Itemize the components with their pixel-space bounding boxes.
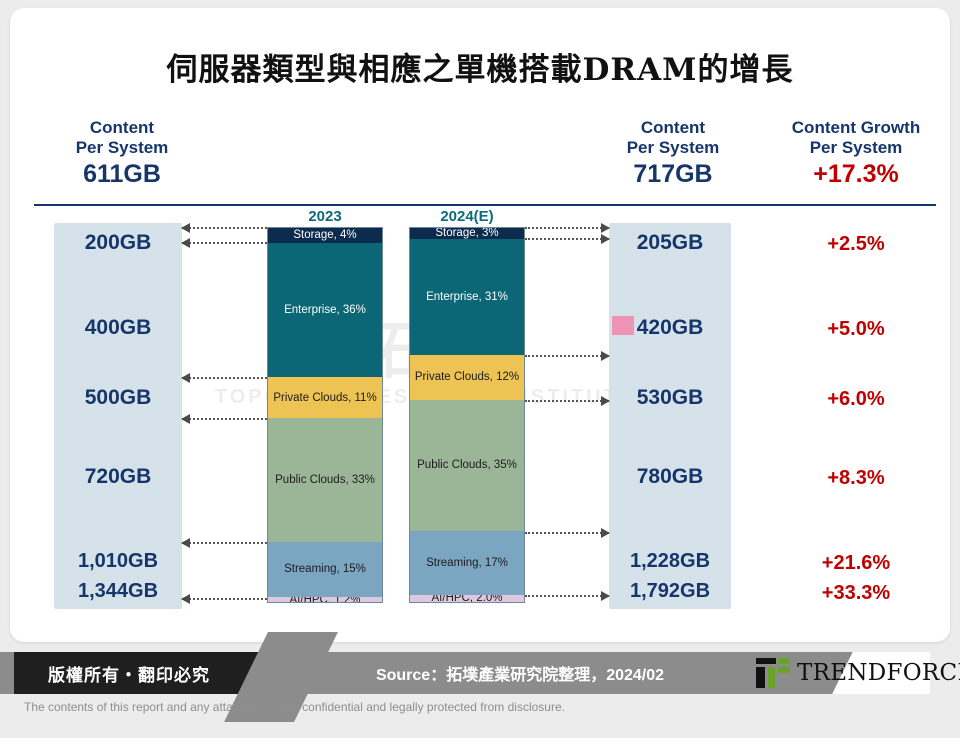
arrow-head-icon <box>601 223 610 233</box>
year-label-2023: 2023 <box>265 208 385 225</box>
bar-segment-storage: Storage, 4% <box>268 228 382 243</box>
connector-line <box>182 598 267 600</box>
left-value-0: 200GB <box>54 231 182 255</box>
right-value-2: 530GB <box>609 386 731 410</box>
connector-line <box>525 238 609 240</box>
growth-value-3: +8.3% <box>758 467 950 490</box>
arrow-head-icon <box>181 238 190 248</box>
growth-value-0: +2.5% <box>758 233 950 256</box>
arrow-head-icon <box>601 351 610 361</box>
bar-segment-ai-hpc: AI/HPC, 2.0% <box>410 595 524 602</box>
bar-segment-private-clouds: Private Clouds, 12% <box>410 355 524 400</box>
header-mid-value: 717GB <box>598 160 748 190</box>
connector-left-1 <box>182 242 267 243</box>
growth-value-5: +33.3% <box>758 582 950 605</box>
arrow-head-icon <box>601 234 610 244</box>
bar-segment-streaming: Streaming, 17% <box>410 531 524 595</box>
arrow-head-icon <box>601 528 610 538</box>
connector-right-3 <box>525 400 609 401</box>
left-value-3: 720GB <box>54 465 182 489</box>
header-left-line1: Content <box>34 118 210 138</box>
connector-right-5 <box>525 595 609 596</box>
bar-segment-public-clouds: Public Clouds, 35% <box>410 400 524 531</box>
connector-line <box>525 595 609 597</box>
growth-value-4: +21.6% <box>758 552 950 575</box>
right-value-4: 1,228GB <box>609 550 731 573</box>
header-stat-right: Content Growth Per System +17.3% <box>758 118 950 190</box>
arrow-head-icon <box>181 594 190 604</box>
connector-left-2 <box>182 377 267 378</box>
arrow-head-icon <box>181 538 190 548</box>
left-value-2: 500GB <box>54 386 182 410</box>
arrow-head-icon <box>181 373 190 383</box>
header-mid-line1: Content <box>598 118 748 138</box>
connector-line <box>182 418 267 420</box>
trendforce-wordmark: TRENDFORCE <box>797 660 960 686</box>
right-value-0: 205GB <box>609 231 731 255</box>
header-left-value: 611GB <box>34 160 210 190</box>
connector-line <box>182 542 267 544</box>
trendforce-mark-icon <box>756 658 790 688</box>
connector-line <box>525 355 609 357</box>
header-divider <box>34 204 936 206</box>
right-value-3: 780GB <box>609 465 731 489</box>
bar-segment-storage: Storage, 3% <box>410 228 524 239</box>
stacked-bar-2024E: Storage, 3%Enterprise, 31%Private Clouds… <box>409 227 525 603</box>
connector-left-3 <box>182 418 267 419</box>
stacked-bar-2023: Storage, 4%Enterprise, 36%Private Clouds… <box>267 227 383 603</box>
header-left-line2: Per System <box>34 138 210 158</box>
left-value-1: 400GB <box>54 316 182 340</box>
bar-segment-public-clouds: Public Clouds, 33% <box>268 418 382 541</box>
header-mid-line2: Per System <box>598 138 748 158</box>
arrow-head-icon <box>181 223 190 233</box>
left-value-4: 1,010GB <box>54 550 182 573</box>
connector-line <box>525 400 609 402</box>
connector-right-1 <box>525 238 609 239</box>
growth-value-2: +6.0% <box>758 388 950 411</box>
connector-right-0 <box>525 227 609 228</box>
bar-segment-streaming: Streaming, 15% <box>268 542 382 598</box>
page-title: 伺服器類型與相應之單機搭載DRAM的增長 <box>10 44 950 89</box>
left-value-5: 1,344GB <box>54 580 182 603</box>
footer: 版權所有・翻印必究 Source：拓墣產業研究院整理，2024/02 TREND… <box>0 644 960 720</box>
bar-segment-ai-hpc: AI/HPC, 1.2% <box>268 597 382 601</box>
connector-right-4 <box>525 532 609 533</box>
header-right-line2: Per System <box>758 138 950 158</box>
arrow-head-icon <box>181 414 190 424</box>
header-right-line1: Content Growth <box>758 118 950 138</box>
connector-left-4 <box>182 542 267 543</box>
slide-card: 伺服器類型與相應之單機搭載DRAM的增長 Content Per System … <box>10 8 950 642</box>
right-value-5: 1,792GB <box>609 580 731 603</box>
connector-line <box>182 227 267 229</box>
bar-segment-enterprise: Enterprise, 31% <box>410 239 524 355</box>
connector-left-0 <box>182 227 267 228</box>
selection-artifact <box>612 316 634 335</box>
header-stat-mid: Content Per System 717GB <box>598 118 748 190</box>
growth-value-1: +5.0% <box>758 318 950 341</box>
connector-line <box>525 532 609 534</box>
header-stat-left: Content Per System 611GB <box>34 118 210 190</box>
connector-line <box>182 377 267 379</box>
year-label-2024: 2024(E) <box>407 208 527 225</box>
trendforce-logo: TRENDFORCE <box>756 656 960 690</box>
connector-line <box>182 242 267 244</box>
disclaimer-text: The contents of this report and any atta… <box>24 700 565 714</box>
bar-segment-private-clouds: Private Clouds, 11% <box>268 377 382 418</box>
arrow-head-icon <box>601 396 610 406</box>
bar-segment-enterprise: Enterprise, 36% <box>268 243 382 377</box>
arrow-head-icon <box>601 591 610 601</box>
connector-right-2 <box>525 355 609 356</box>
connector-line <box>525 227 609 229</box>
source-note: Source：拓墣產業研究院整理，2024/02 <box>300 652 740 694</box>
header-right-value: +17.3% <box>758 160 950 190</box>
copyright-notice: 版權所有・翻印必究 <box>14 652 244 694</box>
connector-left-5 <box>182 598 267 599</box>
